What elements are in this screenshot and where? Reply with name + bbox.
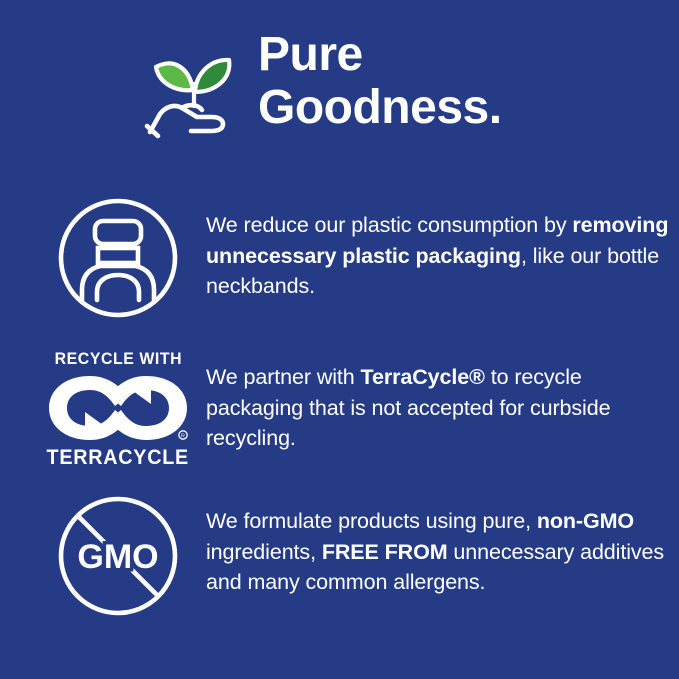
- pure-goodness-infographic: Pure Goodness. We reduce our plastic con…: [0, 0, 679, 679]
- feature-text-plastic: We reduce our plastic consumption by rem…: [206, 210, 679, 302]
- brand-lockup: Pure Goodness.: [144, 28, 502, 144]
- svg-text:R: R: [181, 434, 185, 440]
- terracycle-logo: RECYCLE WITH: [48, 346, 188, 470]
- bottle-neckband-icon: [48, 196, 188, 320]
- feature-row-terracycle: RECYCLE WITH: [48, 346, 679, 470]
- feature-text-terracycle: We partner with TerraCycle® to recycle p…: [206, 362, 679, 454]
- feature-row-plastic: We reduce our plastic consumption by rem…: [48, 196, 679, 320]
- feature-text-gmo: We formulate products using pure, non-GM…: [206, 506, 679, 598]
- feature-row-gmo: GMO We formulate products using pure, no…: [48, 494, 679, 618]
- recycle-infinity-loop-icon: R: [45, 372, 191, 444]
- terracycle-top-text: RECYCLE WITH: [54, 350, 181, 369]
- svg-text:GMO: GMO: [77, 538, 158, 576]
- terracycle-bottom-text: TERRACYCLE: [47, 446, 189, 470]
- no-gmo-icon: GMO: [48, 494, 188, 618]
- page-title: Pure Goodness.: [258, 28, 502, 134]
- hand-holding-sprout-icon: [144, 34, 248, 144]
